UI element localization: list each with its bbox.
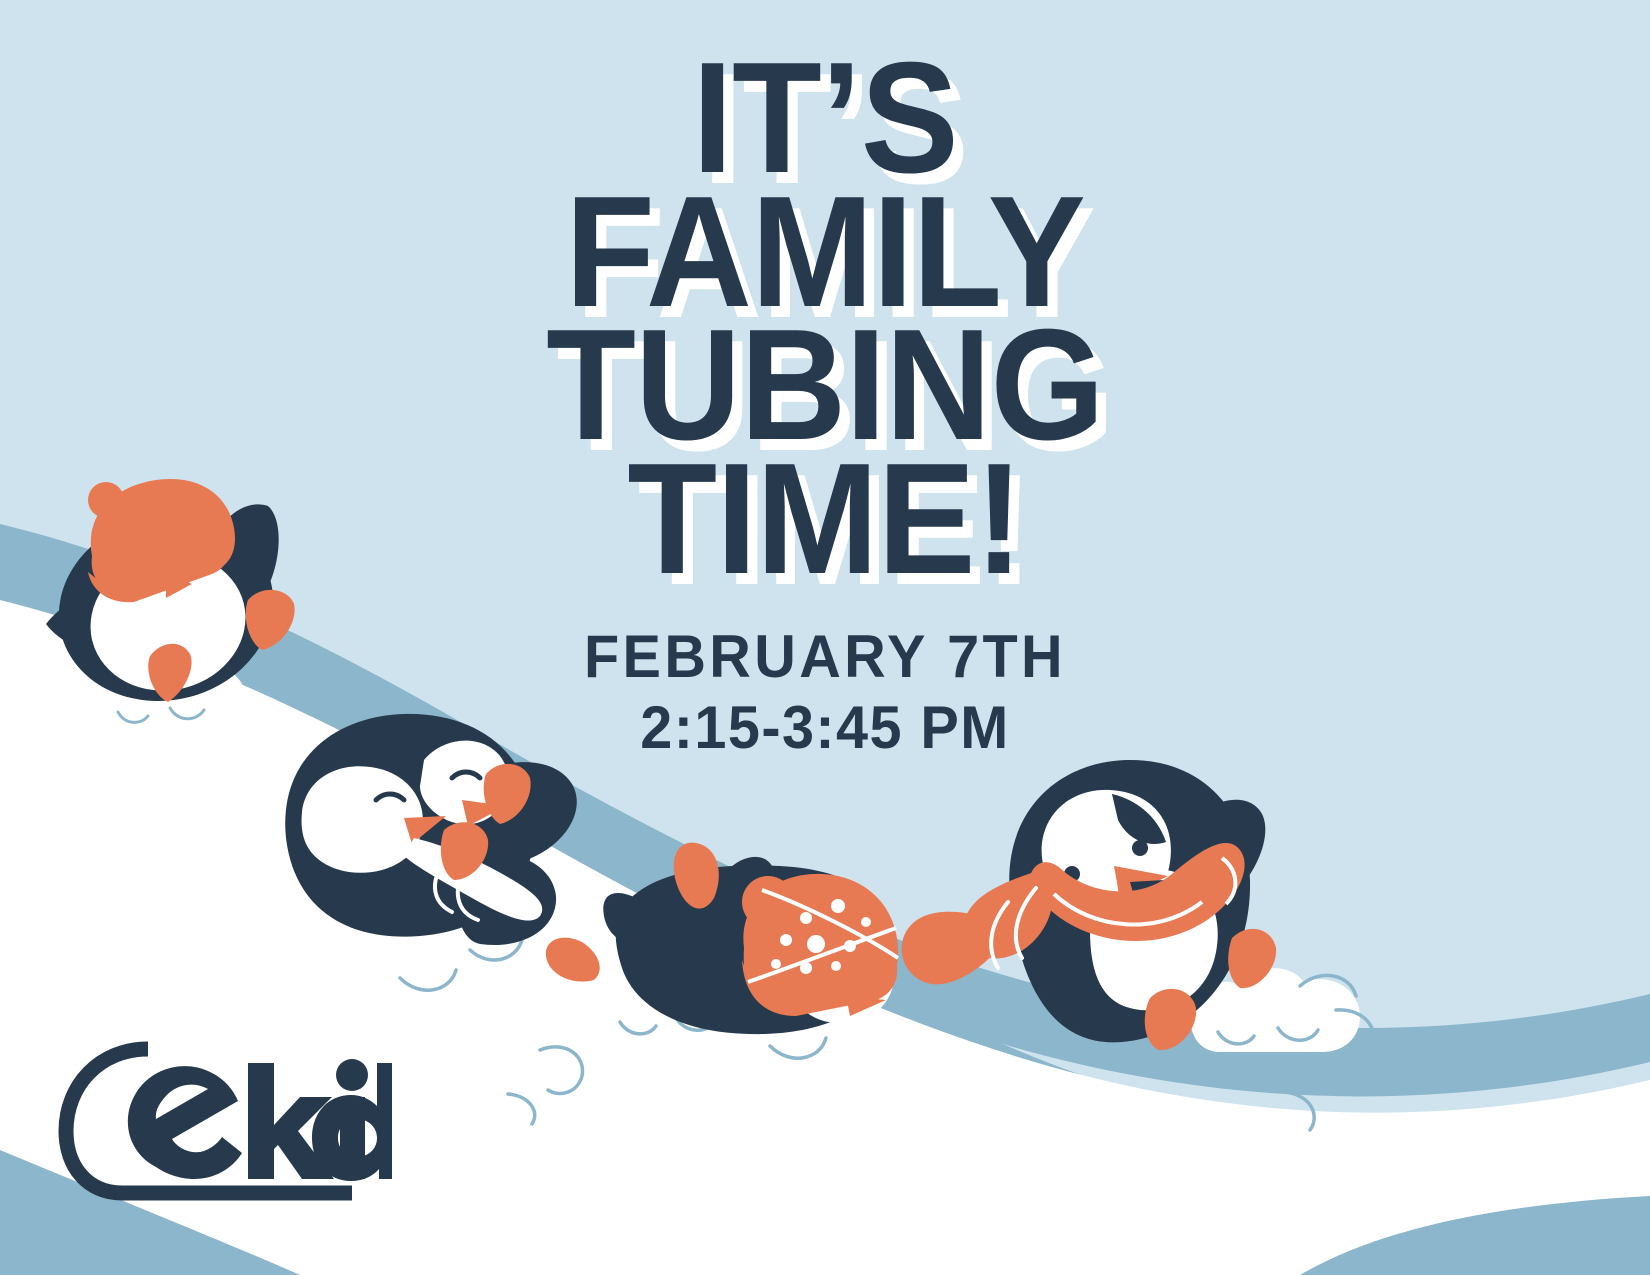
kids-wordmark: [248, 1059, 392, 1199]
event-flyer: IT’S FAMILY TUBING TIME! FEBRUARY 7TH 2:…: [0, 0, 1650, 1275]
e-monogram-icon: [128, 1066, 242, 1179]
penguin4-eye-right: [1132, 840, 1148, 856]
ce-kids-logomark: [52, 1027, 392, 1217]
penguin3-beanie-pompom: [742, 876, 794, 928]
brand-logo[interactable]: CEkids: [52, 1027, 392, 1217]
penguin-beanie-pompom: [88, 482, 124, 518]
